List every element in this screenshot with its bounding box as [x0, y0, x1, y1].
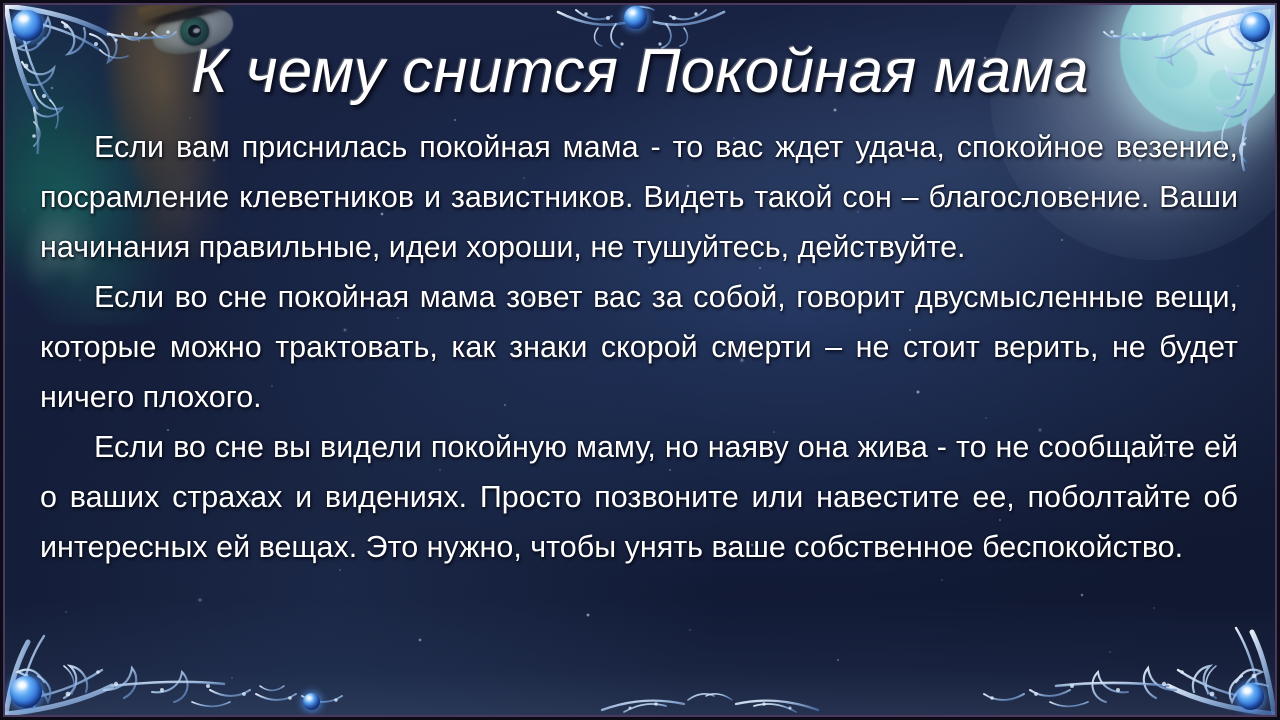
blue-bead-bottom-left	[10, 676, 42, 708]
blue-bead-bottom-right	[1237, 683, 1264, 710]
blue-bead-top-right	[1240, 12, 1270, 42]
blue-bead-top-center	[624, 6, 647, 29]
blue-bead-top-left	[12, 10, 43, 41]
body-text-block: Если вам приснилась покойная мама - то в…	[40, 122, 1238, 572]
title-band: К чему снится Покойная мама	[0, 28, 1280, 114]
paragraph-2: Если во сне покойная мама зовет вас за с…	[40, 272, 1238, 422]
page-title: К чему снится Покойная мама	[191, 36, 1089, 107]
paragraph-1: Если вам приснилась покойная мама - то в…	[40, 122, 1238, 272]
slide-canvas: К чему снится Покойная мама Если вам при…	[0, 0, 1280, 720]
blue-bead-bottom-center	[303, 693, 320, 710]
paragraph-3: Если во сне вы видели покойную маму, но …	[40, 422, 1238, 572]
